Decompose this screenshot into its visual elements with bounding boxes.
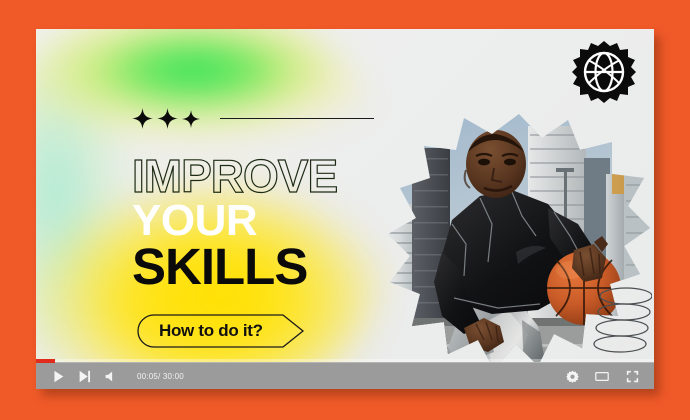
headline-line-2: YOUR <box>132 201 412 241</box>
poster-stage: IMPROVE YOUR SKILLS How to do it? <box>0 0 690 420</box>
time-display: 00:05/ 30:00 <box>137 372 184 381</box>
globe-emblem-icon[interactable] <box>572 40 636 104</box>
player-right-controls <box>559 365 645 387</box>
video-card: IMPROVE YOUR SKILLS How to do it? <box>36 29 654 389</box>
star-icon <box>132 108 153 129</box>
video-player-controls[interactable]: 00:05/ 30:00 <box>36 362 654 389</box>
stars-top <box>132 108 200 129</box>
star-icon <box>182 110 200 128</box>
progress-bar[interactable] <box>36 359 654 363</box>
miniplayer-icon <box>595 370 609 383</box>
headline-line-1: IMPROVE <box>132 155 412 197</box>
fullscreen-icon <box>626 370 639 383</box>
next-track-button[interactable] <box>71 365 97 387</box>
spring-coil-icon <box>590 287 652 353</box>
volume-icon <box>104 370 117 383</box>
next-track-icon <box>78 370 91 383</box>
cta-label: How to do it? <box>159 321 263 341</box>
card-canvas: IMPROVE YOUR SKILLS How to do it? <box>36 29 654 389</box>
headline-rule <box>220 118 374 119</box>
headline-block: IMPROVE YOUR SKILLS <box>132 155 412 291</box>
miniplayer-button[interactable] <box>589 365 615 387</box>
volume-button[interactable] <box>97 365 123 387</box>
play-icon <box>52 370 65 383</box>
gear-icon <box>566 370 579 383</box>
play-button[interactable] <box>45 365 71 387</box>
how-to-do-it-button[interactable]: How to do it? <box>137 314 305 348</box>
progress-fill <box>36 359 55 363</box>
fullscreen-button[interactable] <box>619 365 645 387</box>
settings-button[interactable] <box>559 365 585 387</box>
headline-line-3: SKILLS <box>132 244 412 291</box>
star-icon <box>157 108 178 129</box>
